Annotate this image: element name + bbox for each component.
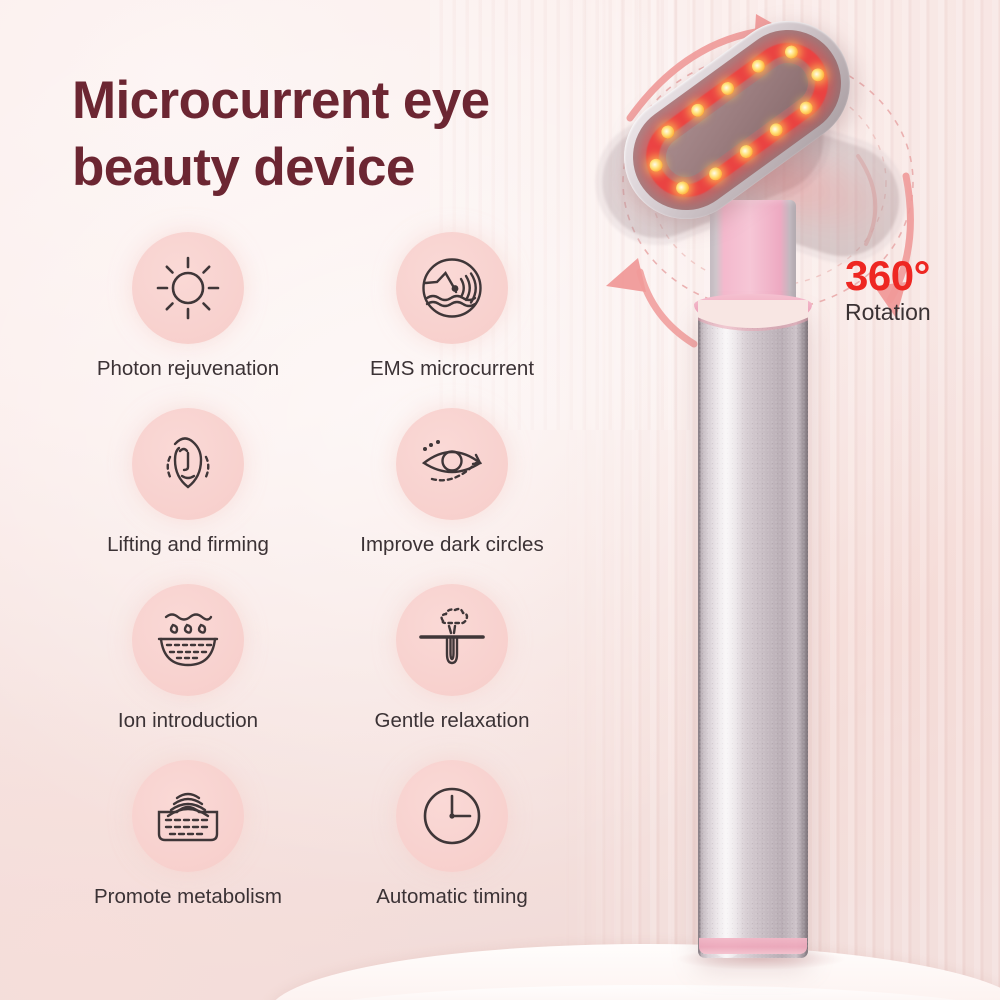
- face-lifting-icon: [132, 408, 244, 520]
- led-dot: [719, 79, 737, 97]
- led-dot: [707, 165, 725, 183]
- feature-item-lifting-and-firming: Lifting and firming: [56, 408, 320, 584]
- feature-row: Ion introduction Gentle relaxation: [56, 584, 584, 760]
- feature-label: Gentle relaxation: [375, 710, 530, 733]
- feature-row: Photon rejuvenation EMS microcurr: [56, 232, 584, 408]
- feature-label: Ion introduction: [118, 710, 258, 733]
- feature-item-ion-introduction: Ion introduction: [56, 584, 320, 760]
- rotation-callout: 360° Rotation: [845, 255, 995, 324]
- sun-icon: [132, 232, 244, 344]
- led-dot: [689, 101, 707, 119]
- feature-row: Promote metabolism Automatic timing: [56, 760, 584, 936]
- feature-item-improve-dark-circles: Improve dark circles: [320, 408, 584, 584]
- led-dot: [767, 121, 785, 139]
- feature-item-gentle-relaxation: Gentle relaxation: [320, 584, 584, 760]
- led-dot: [647, 156, 665, 174]
- feature-label: Promote metabolism: [94, 886, 282, 909]
- feature-label: EMS microcurrent: [370, 358, 534, 381]
- feature-label: Improve dark circles: [360, 534, 543, 557]
- skin-waves-icon: [132, 760, 244, 872]
- feature-item-ems-microcurrent: EMS microcurrent: [320, 232, 584, 408]
- ion-bowl-icon: [132, 584, 244, 696]
- ems-wave-icon: [396, 232, 508, 344]
- led-dot: [797, 99, 815, 117]
- feature-list: Photon rejuvenation EMS microcurr: [56, 232, 584, 936]
- led-dot: [673, 179, 691, 197]
- product-handle: [698, 308, 808, 958]
- clock-icon: [396, 760, 508, 872]
- led-dot: [749, 57, 767, 75]
- feature-item-photon-rejuvenation: Photon rejuvenation: [56, 232, 320, 408]
- feature-label: Photon rejuvenation: [97, 358, 279, 381]
- handle-top-curve: [698, 300, 808, 334]
- led-dot: [809, 66, 827, 84]
- handle-base-band: [699, 938, 807, 954]
- rotation-value: 360°: [845, 255, 995, 297]
- feature-row: Lifting and firming Improve dark circles: [56, 408, 584, 584]
- pore-steam-icon: [396, 584, 508, 696]
- feature-label: Automatic timing: [376, 886, 528, 909]
- led-dot: [737, 143, 755, 161]
- rotation-caption: Rotation: [845, 301, 995, 324]
- feature-item-promote-metabolism: Promote metabolism: [56, 760, 320, 936]
- product-infographic: Microcurrent eye beauty device: [0, 0, 1000, 1000]
- page-title: Microcurrent eye beauty device: [72, 68, 632, 202]
- led-dot: [782, 43, 800, 61]
- feature-label: Lifting and firming: [107, 534, 269, 557]
- product-photo: [590, 0, 1000, 1000]
- handle-highlight: [710, 308, 744, 958]
- feature-item-automatic-timing: Automatic timing: [320, 760, 584, 936]
- eye-icon: [396, 408, 508, 520]
- led-dot: [659, 123, 677, 141]
